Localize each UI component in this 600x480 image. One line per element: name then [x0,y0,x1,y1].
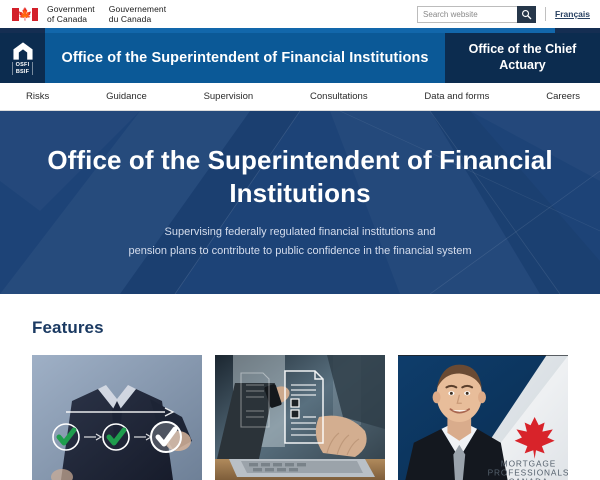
hero-subtitle-line2: pension plans to contribute to public co… [36,242,564,261]
osfi-abbr-fr: BSIF [16,69,30,76]
nav-item-careers[interactable]: Careers [546,91,580,102]
wordmark-fr-line2: du Canada [109,14,166,24]
office-chief-actuary-link[interactable]: Office of the Chief Actuary [445,33,600,83]
features-heading: Features [32,318,600,338]
brand-title[interactable]: Office of the Superintendent of Financia… [45,33,445,83]
gc-wordmark-text: Government of Canada Gouvernement du Can… [47,4,166,24]
canada-flag-icon: 🍁 [12,8,38,21]
language-toggle-link[interactable]: Français [555,9,590,19]
feature-card-checkmarks[interactable] [32,355,202,480]
gc-wordmark[interactable]: 🍁 Government of Canada Gouvernement du C… [12,4,166,24]
nav-item-guidance[interactable]: Guidance [106,91,147,102]
search-button[interactable] [517,6,536,23]
feature-image-mortgage-professionals: MORTGAGE PROFESSIONALS CANADA [398,355,568,480]
search-input[interactable] [417,6,517,23]
feature-card-digital-documents[interactable] [215,355,385,480]
wordmark-en-line2: of Canada [47,14,95,24]
feature-image-digital-documents [215,355,385,480]
feature-card-mortgage-professionals[interactable]: MORTGAGE PROFESSIONALS CANADA [398,355,568,480]
gc-bar-right: Français [417,0,590,28]
hero-subtitle: Supervising federally regulated financia… [36,223,564,261]
osfi-logo[interactable]: OSFI BSIF [0,33,45,83]
search-icon [521,9,532,20]
osfi-logo-abbr: OSFI BSIF [12,62,34,75]
gc-utility-bar: 🍁 Government of Canada Gouvernement du C… [0,0,600,28]
wordmark-en-line1: Government [47,4,95,14]
features-card-list: MORTGAGE PROFESSIONALS CANADA [32,355,600,480]
main-navigation: Risks Guidance Supervision Consultations… [0,83,600,111]
feature-image-checkmarks [32,355,202,480]
site-search[interactable] [417,6,536,23]
brand-band: OSFI BSIF Office of the Superintendent o… [0,33,600,83]
divider [545,7,546,21]
features-section: Features [0,294,600,480]
osfi-shield-icon [12,41,34,61]
mortgage-logo-line3: CANADA [509,476,549,480]
nav-item-risks[interactable]: Risks [26,91,49,102]
wordmark-fr-line1: Gouvernement [109,4,166,14]
nav-item-supervision[interactable]: Supervision [204,91,254,102]
hero-title: Office of the Superintendent of Financia… [36,144,564,210]
nav-item-data-and-forms[interactable]: Data and forms [424,91,489,102]
hero-subtitle-line1: Supervising federally regulated financia… [36,223,564,242]
osfi-abbr-en: OSFI [16,62,30,69]
nav-item-consultations[interactable]: Consultations [310,91,368,102]
hero-banner: Office of the Superintendent of Financia… [0,111,600,294]
